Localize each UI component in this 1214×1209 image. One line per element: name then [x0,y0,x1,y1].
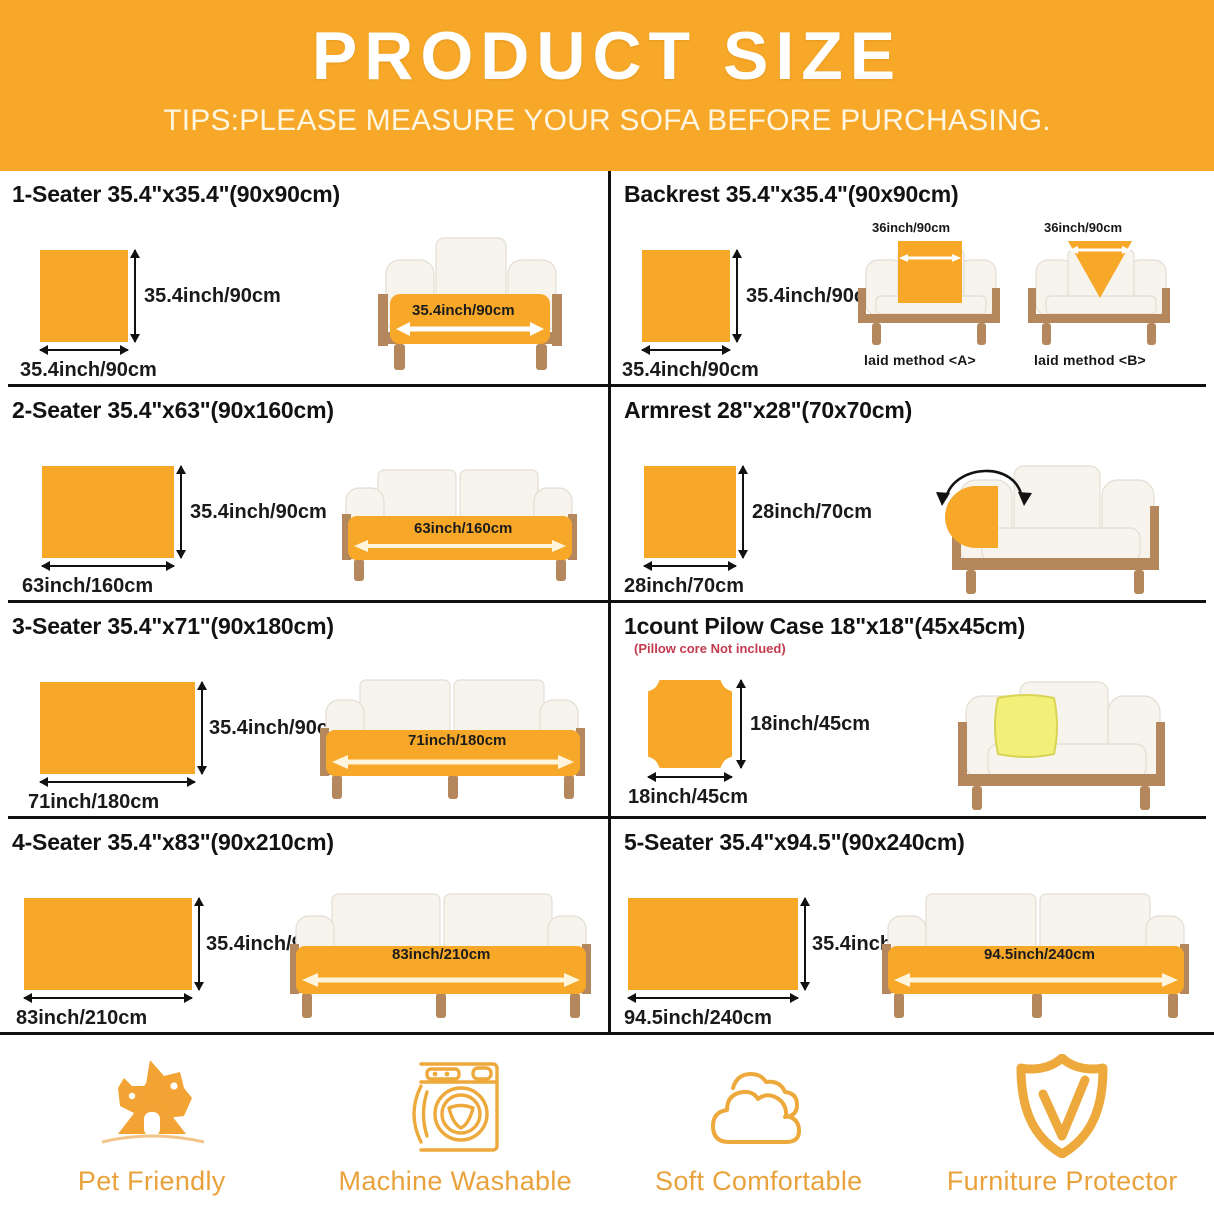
height-dimension-line [198,898,200,990]
grid-row-3: 3-Seater 35.4"x71"(90x180cm) 35.4inch/90… [0,603,1214,819]
cloud-icon [695,1052,823,1160]
feature-badges-row: Pet Friendly [0,1038,1214,1209]
width-dimension-label: 35.4inch/90cm [622,360,759,380]
cell-3-seater: 3-Seater 35.4"x71"(90x180cm) 35.4inch/90… [8,603,604,819]
laid-a-caption: laid method <A> [864,352,976,368]
sofa-illustration-laid-method-b: 36inch/90cm [1016,236,1182,348]
cell-title: 1count Pilow Case 18"x18"(45x45cm) [620,613,1206,640]
width-dimension-line [628,997,798,999]
height-dimension-line [134,250,136,342]
height-dimension-line [804,898,806,990]
fabric-swatch [40,250,128,342]
feature-pet-friendly: Pet Friendly [2,1052,302,1197]
feature-label: Machine Washable [339,1166,572,1197]
cell-title: 3-Seater 35.4"x71"(90x180cm) [8,613,604,640]
width-dimension-line [40,349,128,351]
fabric-swatch [42,466,174,558]
width-dimension-line [648,776,732,778]
pillow-swatch [648,680,732,768]
size-grid: 1-Seater 35.4"x35.4"(90x90cm) 35.4inch/9… [0,171,1214,1035]
sofa-illustration-laid-method-a: 36inch/90cm [846,236,1012,348]
feature-furniture-protector: Furniture Protector [912,1052,1212,1197]
pet-dog-house-icon [88,1052,216,1160]
feature-machine-washable: Machine Washable [305,1052,605,1197]
grid-row-4: 4-Seater 35.4"x83"(90x210cm) 35.4inch/90… [0,819,1214,1035]
cell-title: Armrest 28"x28"(70x70cm) [620,397,1206,424]
width-dimension-line [642,349,730,351]
feature-soft-comfortable: Soft Comfortable [609,1052,909,1197]
sofa-illustration-pillow [924,662,1170,812]
page-title: PRODUCT SIZE [312,22,902,90]
feature-label: Soft Comfortable [655,1166,862,1197]
shield-check-icon [1009,1052,1115,1160]
height-dimension-label: 28inch/70cm [752,502,872,522]
washing-machine-icon [397,1052,513,1160]
laid-a-top-label: 36inch/90cm [872,220,950,235]
height-dimension-line [742,466,744,558]
sofa-illustration-1-seater: 35.4inch/90cm [360,232,578,372]
sofa-illustration-4-seater: 83inch/210cm [276,890,606,1018]
sofa-overlay-dimension: 94.5inch/240cm [984,946,1095,963]
width-dimension-line [40,781,195,783]
height-dimension-label: 18inch/45cm [750,714,870,734]
width-dimension-line [42,565,174,567]
cell-title: 1-Seater 35.4"x35.4"(90x90cm) [8,181,604,208]
cell-pillow-case: 1count Pilow Case 18"x18"(45x45cm) (Pill… [620,603,1206,819]
height-dimension-line [736,250,738,342]
cell-1-seater: 1-Seater 35.4"x35.4"(90x90cm) 35.4inch/9… [8,171,604,387]
height-dimension-label: 35.4inch/90cm [190,502,327,522]
sofa-overlay-dimension: 35.4inch/90cm [412,302,515,319]
width-dimension-line [24,997,192,999]
cell-title: 5-Seater 35.4"x94.5"(90x240cm) [620,829,1206,856]
cell-armrest: Armrest 28"x28"(70x70cm) 28inch/70cm 28i… [620,387,1206,603]
height-dimension-line [180,466,182,558]
pillow-core-note: (Pillow core Not inclued) [620,641,1206,656]
cell-backrest: Backrest 35.4"x35.4"(90x90cm) 35.4inch/9… [620,171,1206,387]
width-dimension-label: 63inch/160cm [22,576,153,596]
cell-title: Backrest 35.4"x35.4"(90x90cm) [620,181,1206,208]
sofa-overlay-dimension: 83inch/210cm [392,946,490,963]
cell-title: 2-Seater 35.4"x63"(90x160cm) [8,397,604,424]
laid-b-caption: laid method <B> [1034,352,1146,368]
width-dimension-label: 18inch/45cm [628,787,748,807]
width-dimension-label: 83inch/210cm [16,1008,147,1028]
grid-bottom-separator [0,1032,1214,1035]
fabric-swatch [644,466,736,558]
header-subtitle: TIPS:PLEASE MEASURE YOUR SOFA BEFORE PUR… [163,104,1051,137]
fabric-swatch [642,250,730,342]
laid-b-top-label: 36inch/90cm [1044,220,1122,235]
fabric-swatch [40,682,195,774]
width-dimension-label: 35.4inch/90cm [20,360,157,380]
grid-row-1: 1-Seater 35.4"x35.4"(90x90cm) 35.4inch/9… [0,171,1214,387]
grid-vertical-divider [608,171,611,1035]
sofa-illustration-armrest [920,446,1164,596]
width-dimension-line [644,565,736,567]
cell-2-seater: 2-Seater 35.4"x63"(90x160cm) 35.4inch/90… [8,387,604,603]
sofa-illustration-5-seater: 94.5inch/240cm [868,890,1204,1018]
width-dimension-label: 71inch/180cm [28,792,159,812]
width-dimension-label: 94.5inch/240cm [624,1008,772,1028]
cell-title: 4-Seater 35.4"x83"(90x210cm) [8,829,604,856]
sofa-overlay-dimension: 71inch/180cm [408,732,506,749]
sofa-illustration-3-seater: 71inch/180cm [308,676,604,800]
sofa-illustration-2-seater: 63inch/160cm [330,466,598,582]
height-dimension-line [201,682,203,774]
product-size-infographic: PRODUCT SIZE TIPS:PLEASE MEASURE YOUR SO… [0,0,1214,1209]
height-dimension-line [740,680,742,768]
cell-5-seater: 5-Seater 35.4"x94.5"(90x240cm) 35.4inch/… [620,819,1206,1035]
fabric-swatch [628,898,798,990]
width-dimension-label: 28inch/70cm [624,576,744,596]
feature-label: Pet Friendly [78,1166,226,1197]
feature-label: Furniture Protector [947,1166,1178,1197]
grid-row-2: 2-Seater 35.4"x63"(90x160cm) 35.4inch/90… [0,387,1214,603]
sofa-overlay-dimension: 63inch/160cm [414,520,512,537]
fabric-swatch [24,898,192,990]
height-dimension-label: 35.4inch/90cm [144,286,281,306]
cell-4-seater: 4-Seater 35.4"x83"(90x210cm) 35.4inch/90… [8,819,604,1035]
header-banner: PRODUCT SIZE TIPS:PLEASE MEASURE YOUR SO… [0,0,1214,171]
